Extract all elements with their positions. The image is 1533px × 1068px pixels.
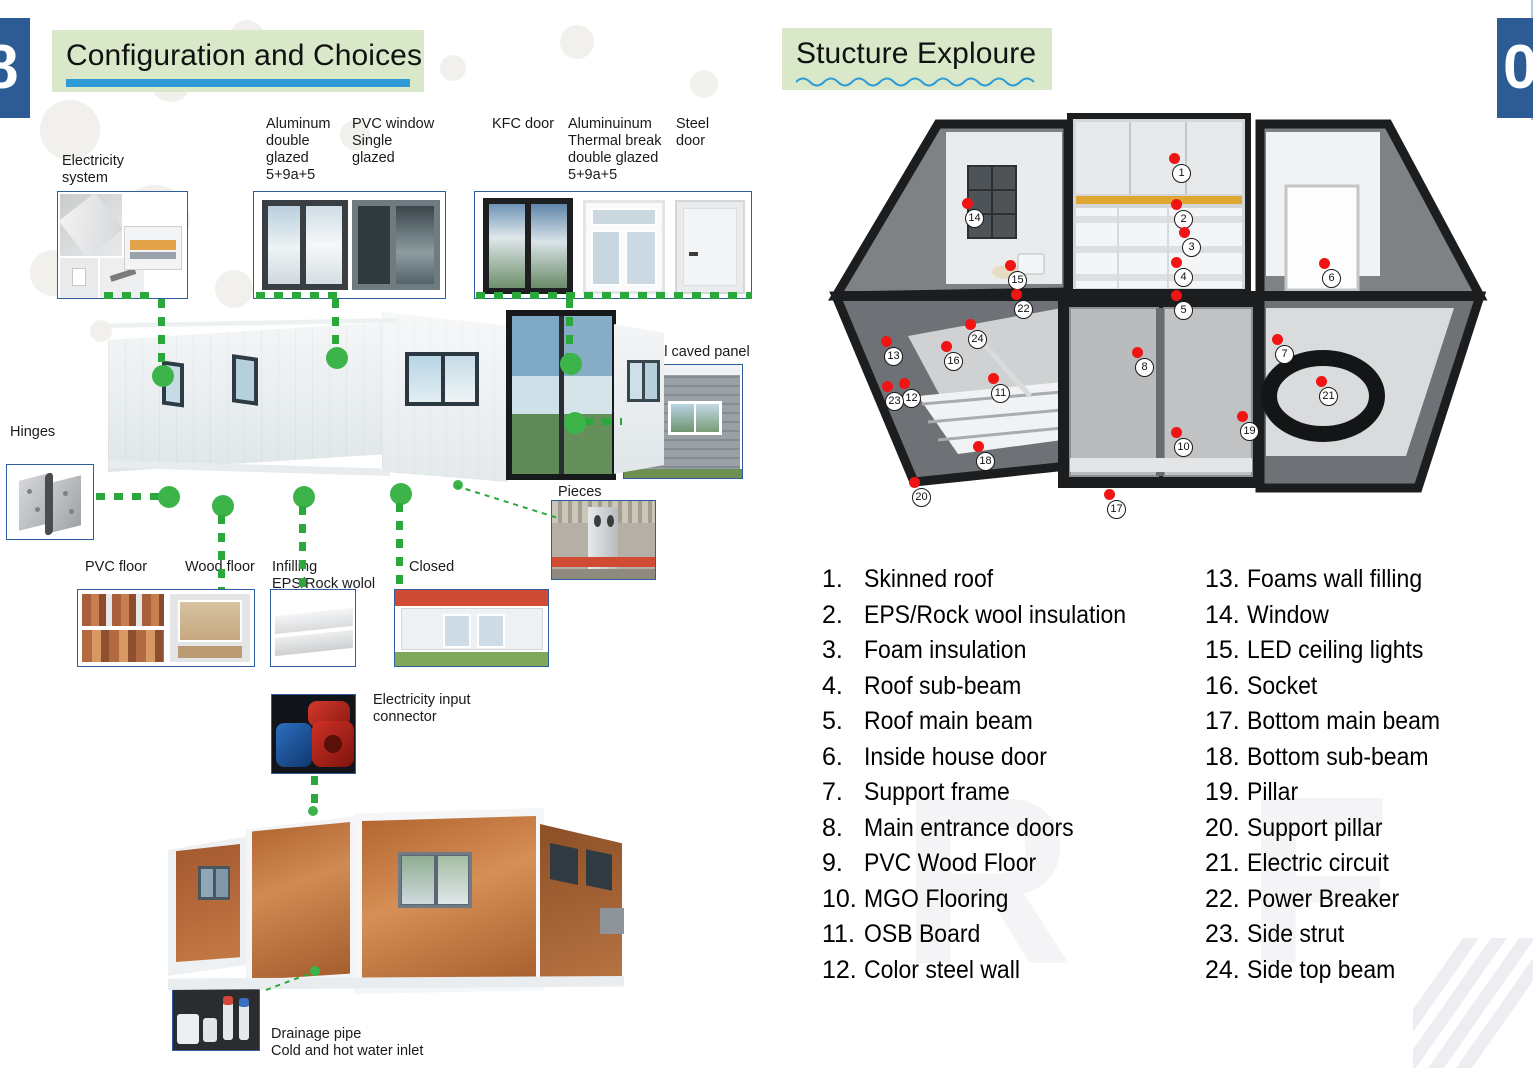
callout-dot [881,336,892,347]
photo-content [7,465,93,539]
list-item-label: MGO Flooring [864,882,1008,918]
structure-list-item: 18.Bottom sub-beam [1205,740,1457,776]
list-item-number: 3. [822,633,864,669]
structure-list-item: 14.Window [1205,598,1457,634]
callout-dot [899,378,910,389]
callout-number: 20 [912,488,931,507]
photo-wood-container-house [168,790,628,1005]
list-item-label: Pillar [1247,775,1298,811]
label-infilling: Infilling EPS/Rock wolol [272,559,387,593]
photo-content [395,590,548,666]
page-number-tab-right: 0 [1497,18,1533,118]
list-item-label: Bottom main beam [1247,704,1440,740]
list-item-label: Socket [1247,669,1317,705]
callout-dot [1272,334,1283,345]
photo-content [78,590,254,666]
photo-infilling [270,589,356,667]
photo-main-container-house [100,300,660,515]
callout-number: 22 [1014,300,1033,319]
label-steel-door: Steel door [676,116,736,150]
structure-list-item: 12.Color steel wall [822,953,1149,989]
bokeh-decoration [560,25,594,59]
label-electricity-input-connector: Electricity input connector [373,692,503,726]
structure-list-item: 11.OSB Board [822,917,1149,953]
callout-number: 19 [1240,422,1259,441]
leader-line [158,299,165,369]
list-item-label: LED ceiling lights [1247,633,1423,669]
structure-list-item: 24.Side top beam [1205,953,1457,989]
callout-dot [1011,289,1022,300]
section-header-configuration: Configuration and Choices [52,30,424,92]
label-pvc-window: PVC window Single glazed [352,116,452,167]
list-item-number: 7. [822,775,864,811]
photo-content [475,192,751,298]
photo-doors [474,191,752,299]
list-item-number: 10. [822,882,864,918]
list-item-number: 14. [1205,598,1247,634]
list-item-number: 20. [1205,811,1247,847]
leader-line-diagonal [450,482,570,522]
structure-list-item: 5.Roof main beam [822,704,1149,740]
callout-dot [1132,347,1143,358]
label-closed: Closed [409,559,454,576]
list-item-number: 16. [1205,669,1247,705]
list-item-number: 11. [822,917,864,953]
list-item-label: Foams wall filling [1247,562,1422,598]
list-item-number: 9. [822,846,864,882]
list-item-number: 8. [822,811,864,847]
label-aluminium-door: Aluminuinum Thermal break double glazed … [568,116,674,184]
list-item-number: 17. [1205,704,1247,740]
callout-dot [973,441,984,452]
page-number-right: 0 [1503,37,1533,99]
callout-dot [1179,227,1190,238]
hotspot-dot [152,365,174,387]
hotspot-dot [564,412,586,434]
callout-dot [962,198,973,209]
structure-list-column-2: 13.Foams wall filling14.Window15.LED cei… [1205,562,1457,988]
page-title-left: Configuration and Choices [52,30,424,73]
structure-list-item: 23.Side strut [1205,917,1457,953]
list-item-number: 2. [822,598,864,634]
list-item-number: 21. [1205,846,1247,882]
list-item-number: 4. [822,669,864,705]
page-number-tab-left: 8 [0,18,30,118]
leader-line [476,292,752,299]
callout-dot [1171,290,1182,301]
wavy-underline-icon [796,75,1036,87]
callout-dot [988,373,999,384]
callout-number: 23 [885,392,904,411]
callout-dot [1169,153,1180,164]
structure-list-column-1: 1.Skinned roof2.EPS/Rock wool insulation… [822,562,1149,988]
photo-electricity-system [57,191,188,299]
callout-dot [1316,376,1327,387]
photo-content [271,590,355,666]
list-item-label: Side strut [1247,917,1344,953]
structure-list-item: 21.Electric circuit [1205,846,1457,882]
list-item-number: 1. [822,562,864,598]
list-item-number: 15. [1205,633,1247,669]
callout-number: 11 [991,384,1010,403]
bokeh-decoration [690,70,718,98]
leader-line [96,493,162,500]
callout-number: 18 [976,452,995,471]
structure-list-item: 8.Main entrance doors [822,811,1149,847]
callout-number: 8 [1135,358,1154,377]
label-drainage-pipe: Drainage pipe Cold and hot water inlet [271,1026,491,1060]
callout-number: 14 [965,209,984,228]
list-item-number: 12. [822,953,864,989]
callout-number: 12 [902,389,921,408]
callout-dot [909,477,920,488]
photo-hinges [6,464,94,540]
list-item-label: Foam insulation [864,633,1026,669]
structure-list-item: 1.Skinned roof [822,562,1149,598]
structure-list-item: 17.Bottom main beam [1205,704,1457,740]
callout-dot [941,341,952,352]
callout-number: 21 [1319,387,1338,406]
callout-dot [965,319,976,330]
hotspot-dot [310,966,320,976]
list-item-number: 19. [1205,775,1247,811]
callout-dot [1171,427,1182,438]
leader-line [566,299,573,357]
list-item-label: PVC Wood Floor [864,846,1036,882]
structure-list-item: 20.Support pillar [1205,811,1457,847]
callout-number: 17 [1107,500,1126,519]
list-item-label: EPS/Rock wool insulation [864,598,1126,634]
hotspot-dot [390,483,412,505]
list-item-number: 23. [1205,917,1247,953]
list-item-number: 24. [1205,953,1247,989]
leader-line [584,418,622,425]
hotspot-dot [212,495,234,517]
header-rule [66,79,410,87]
structure-list-item: 6.Inside house door [822,740,1149,776]
hotspot-dot [308,806,318,816]
list-item-label: Side top beam [1247,953,1395,989]
structure-list-item: 22.Power Breaker [1205,882,1457,918]
photo-windows [253,191,446,299]
list-item-label: Main entrance doors [864,811,1074,847]
page-title-right: Stucture Exploure [782,28,1052,71]
label-hinges: Hinges [10,424,55,441]
structure-list-item: 2.EPS/Rock wool insulation [822,598,1149,634]
structure-list-item: 16.Socket [1205,669,1457,705]
structure-list-item: 10.MGO Flooring [822,882,1149,918]
list-item-label: Power Breaker [1247,882,1399,918]
callout-dot [1171,199,1182,210]
label-kfc-door: KFC door [492,116,572,133]
structure-list-item: 13.Foams wall filling [1205,562,1457,598]
list-item-number: 18. [1205,740,1247,776]
structure-list-item: 3.Foam insulation [822,633,1149,669]
list-item-label: Inside house door [864,740,1047,776]
photo-content [272,695,355,773]
hotspot-dot [326,347,348,369]
list-item-label: Skinned roof [864,562,993,598]
label-electricity-system: Electricity system [62,153,172,187]
list-item-label: Window [1247,598,1329,634]
structure-list-item: 4.Roof sub-beam [822,669,1149,705]
hotspot-dot [560,353,582,375]
leader-line [332,299,339,351]
section-header-structure: Stucture Exploure [782,28,1052,90]
photo-electricity-input-connector [271,694,356,774]
callout-number: 24 [968,330,987,349]
callout-dot [1104,489,1115,500]
structure-list-item: 19.Pillar [1205,775,1457,811]
callout-dot [1319,258,1330,269]
list-item-number: 5. [822,704,864,740]
list-item-label: OSB Board [864,917,980,953]
callout-dot [1237,411,1248,422]
list-item-label: Roof main beam [864,704,1033,740]
photo-floors [77,589,255,667]
page-number-left: 8 [0,37,18,99]
callout-number: 5 [1174,301,1193,320]
callout-number: 3 [1182,238,1201,257]
callout-number: 10 [1174,438,1193,457]
structure-list-item: 7.Support frame [822,775,1149,811]
label-pvc-floor: PVC floor [85,559,147,576]
bokeh-decoration [440,55,466,81]
callout-number: 15 [1008,271,1027,290]
list-item-label: Electric circuit [1247,846,1389,882]
leader-line [104,292,154,299]
callout-number: 13 [884,347,903,366]
structure-svg [818,96,1498,516]
callout-dot [882,381,893,392]
list-item-number: 6. [822,740,864,776]
structure-list-item: 9.PVC Wood Floor [822,846,1149,882]
photo-closed [394,589,549,667]
callout-number: 7 [1275,345,1294,364]
list-item-label: Roof sub-beam [864,669,1021,705]
list-item-label: Color steel wall [864,953,1020,989]
leader-line [299,506,306,589]
callout-number: 1 [1172,164,1191,183]
structure-exploded-diagram: 123456789101112131415161718192021222324 [818,96,1498,516]
callout-dot [1171,257,1182,268]
hotspot-dot [293,486,315,508]
bokeh-decoration [40,100,100,160]
callout-number: 6 [1322,269,1341,288]
list-item-number: 13. [1205,562,1247,598]
list-item-number: 22. [1205,882,1247,918]
list-item-label: Bottom sub-beam [1247,740,1429,776]
leader-line [396,503,403,589]
structure-list-item: 15.LED ceiling lights [1205,633,1457,669]
list-item-label: Support pillar [1247,811,1383,847]
callout-number: 4 [1174,268,1193,287]
list-item-label: Support frame [864,775,1010,811]
slide-page: R F 8 0 Configuration and Choices Stuctu… [0,0,1533,1068]
hotspot-dot [158,486,180,508]
photo-content [58,192,187,298]
leader-line [218,515,225,589]
leader-line [256,292,346,299]
label-aluminum-window: Aluminum double glazed 5+9a+5 [266,116,352,184]
photo-content [254,192,445,298]
callout-dot [1005,260,1016,271]
callout-number: 16 [944,352,963,371]
